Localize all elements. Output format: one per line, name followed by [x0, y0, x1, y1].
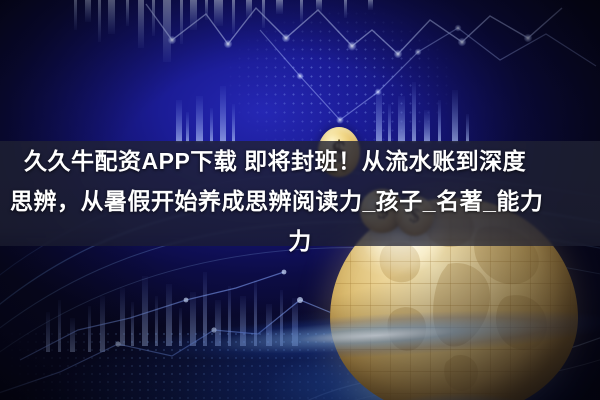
title-line-1: 久久牛配资APP下载 即将封班！从流水账到深度 [6, 141, 594, 181]
title-line-2: 思辨，从暑假开始养成思辨阅读力_孩子_名著_能力 [6, 181, 594, 221]
promo-banner: $ $ $ 久久牛配资APP下载 即将封班！从流水账到深度 思辨，从暑假开始养成… [0, 0, 600, 400]
title-line-3: 力 [6, 221, 594, 261]
banner-title: 久久牛配资APP下载 即将封班！从流水账到深度 思辨，从暑假开始养成思辨阅读力_… [0, 141, 600, 261]
